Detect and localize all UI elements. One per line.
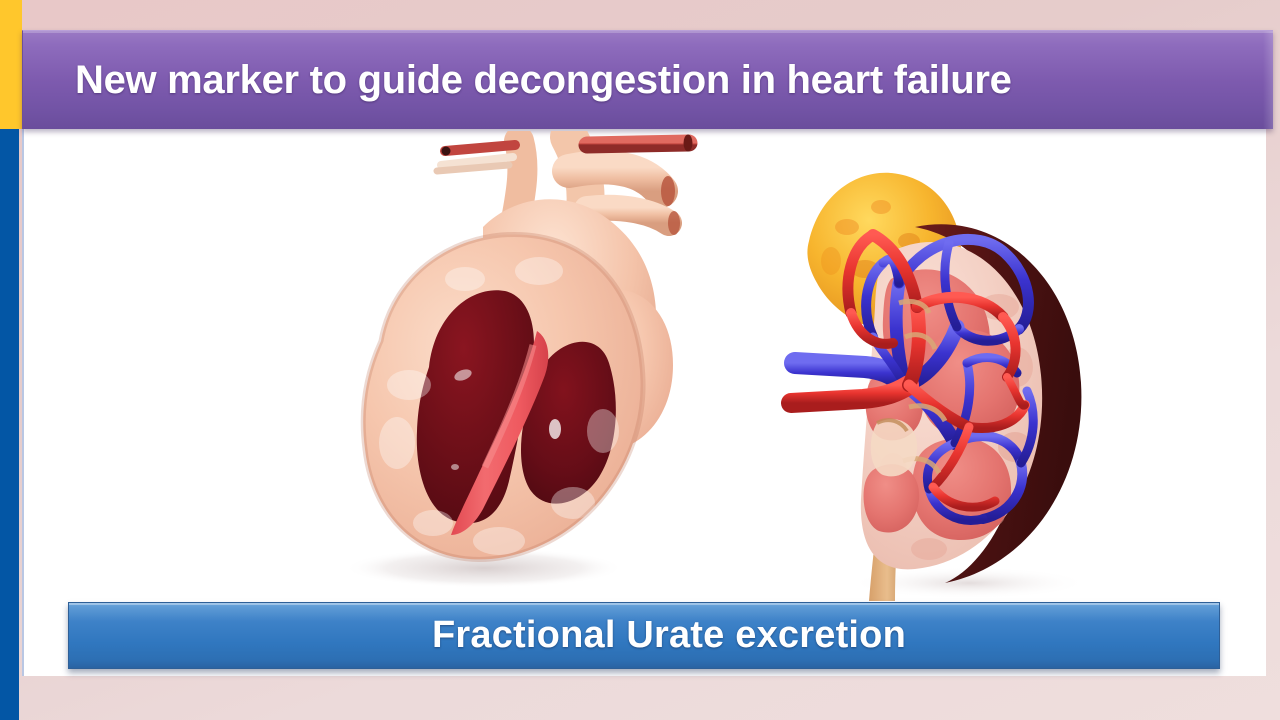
figure-area <box>24 131 1264 601</box>
slide-canvas: New marker to guide decongestion in hear… <box>0 0 1280 720</box>
slide-title: New marker to guide decongestion in hear… <box>75 58 1012 103</box>
left-accent-bar-gold <box>0 0 22 129</box>
heart-illustration <box>269 131 729 601</box>
caption-label: Fractional Urate excretion <box>432 614 906 657</box>
title-banner: New marker to guide decongestion in hear… <box>22 30 1273 129</box>
kidney-svg <box>769 131 1149 601</box>
kidney-illustration <box>769 131 1149 601</box>
caption-banner: Fractional Urate excretion <box>68 602 1220 669</box>
heart-svg <box>269 131 729 601</box>
left-accent-bar-blue <box>0 129 19 720</box>
